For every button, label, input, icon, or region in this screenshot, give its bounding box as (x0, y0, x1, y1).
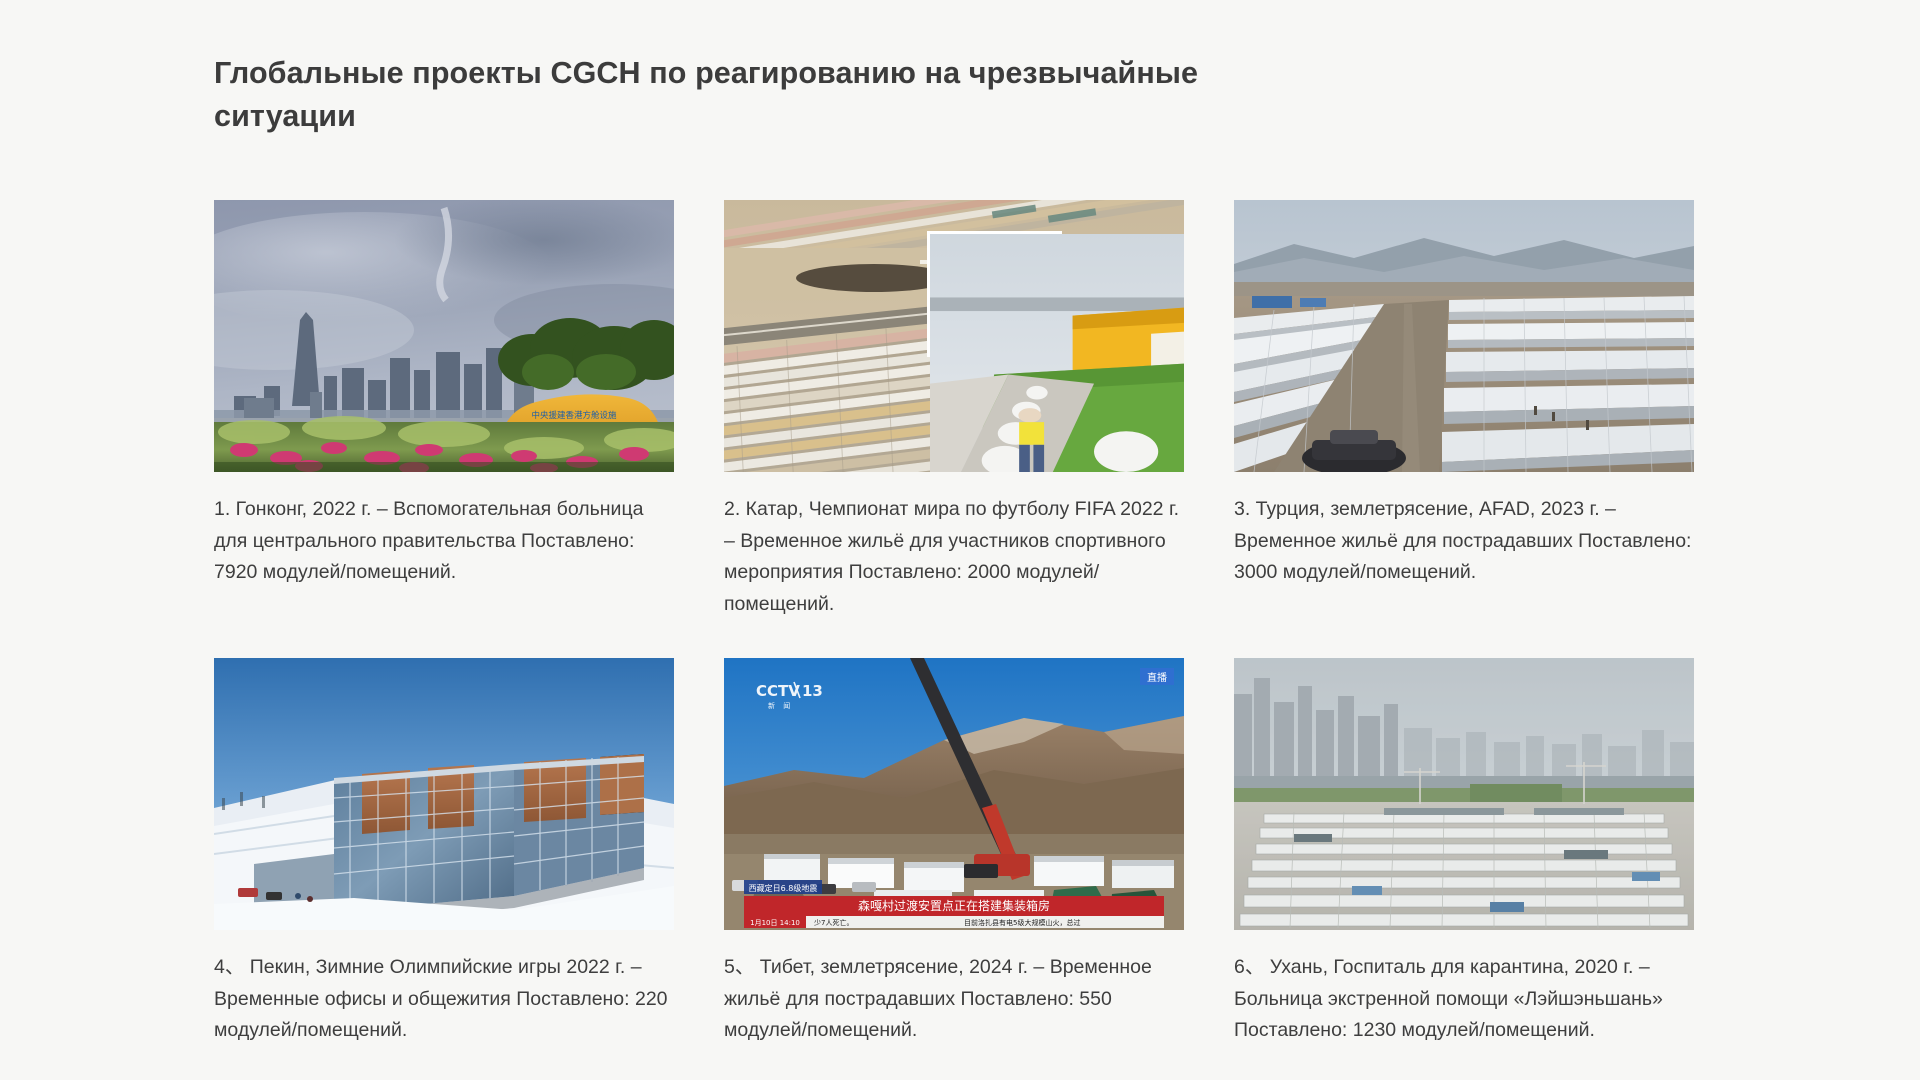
projects-grid: 中央援建香港方舱设施 CENTRAL GOVERNMENT-AIDED LOK … (214, 200, 1694, 1047)
project-card-6[interactable]: 6、 Ухань, Госпиталь для карантина, 2020 … (1234, 658, 1694, 1047)
svg-text:森嘎村过渡安置点正在搭建集装箱房: 森嘎村过渡安置点正在搭建集装箱房 (858, 898, 1050, 913)
project-caption-2: 2. Катар, Чемпионат мира по футболу FIFA… (724, 494, 1184, 620)
hong-kong-mobile-cabin-facility-photo: 中央援建香港方舱设施 CENTRAL GOVERNMENT-AIDED LOK … (214, 200, 674, 472)
svg-text:1月10日 14:10: 1月10日 14:10 (750, 919, 800, 927)
beijing-winter-olympics-modular-office-photo (214, 658, 674, 930)
project-caption-1: 1. Гонконг, 2022 г. – Вспомогательная бо… (214, 494, 674, 589)
svg-text:13: 13 (802, 682, 823, 700)
svg-text:目前洛扎县有电5级大规模山火，总过: 目前洛扎县有电5级大规模山火，总过 (964, 918, 1080, 927)
project-card-3[interactable]: 3. Турция, землетрясение, AFAD, 2023 г. … (1234, 200, 1694, 620)
project-caption-4: 4、 Пекин, Зимние Олимпийские игры 2022 г… (214, 952, 674, 1047)
project-card-5[interactable]: CCTV 13 新 闻 直播 西藏定日6.8级地震 (724, 658, 1184, 1047)
slide-root: Глобальные проекты CGCH по реагированию … (0, 0, 1920, 1080)
svg-text:少7人死亡。: 少7人死亡。 (814, 918, 853, 927)
svg-text:直播: 直播 (1147, 671, 1167, 684)
wuhan-leishenshan-hospital-photo (1234, 658, 1694, 930)
project-card-2[interactable]: 2. Катар, Чемпионат мира по футболу FIFA… (724, 200, 1184, 620)
tibet-earthquake-cctv-broadcast-photo: CCTV 13 新 闻 直播 西藏定日6.8级地震 (724, 658, 1184, 930)
project-card-1[interactable]: 中央援建香港方舱设施 CENTRAL GOVERNMENT-AIDED LOK … (214, 200, 674, 620)
svg-text:新 闻: 新 闻 (768, 701, 793, 710)
qatar-fifa-worker-village-aerial-photo (724, 200, 1184, 472)
svg-text:CCTV: CCTV (756, 682, 800, 700)
svg-text:中央援建香港方舱设施: 中央援建香港方舱设施 (531, 410, 617, 421)
turkey-afad-earthquake-shelter-photo (1234, 200, 1694, 472)
project-caption-3: 3. Турция, землетрясение, AFAD, 2023 г. … (1234, 494, 1694, 589)
page-title: Глобальные проекты CGCH по реагированию … (214, 52, 1224, 139)
project-caption-6: 6、 Ухань, Госпиталь для карантина, 2020 … (1234, 952, 1694, 1047)
project-caption-5: 5、 Тибет, землетрясение, 2024 г. – Време… (724, 952, 1184, 1047)
svg-text:西藏定日6.8级地震: 西藏定日6.8级地震 (749, 883, 818, 893)
project-card-4[interactable]: 4、 Пекин, Зимние Олимпийские игры 2022 г… (214, 658, 674, 1047)
